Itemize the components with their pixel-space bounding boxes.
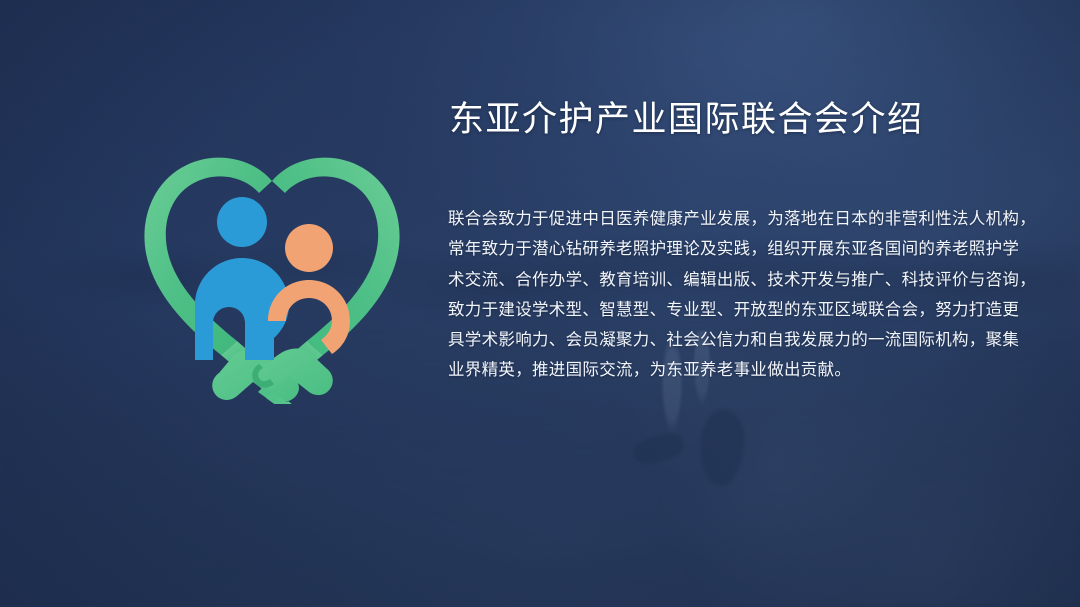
slide-canvas: 东亚介护产业国际联合会介绍 联合会致力于促进中日医养健康产业发展，为落地在日本的… [0, 0, 1080, 607]
body-line: 联合会致力于促进中日医养健康产业发展，为落地在日本的非营利性法人机构， [448, 204, 988, 234]
page-title: 东亚介护产业国际联合会介绍 [449, 99, 924, 141]
body-line: 具学术影响力、会员凝聚力、社会公信力和自我发展力的一流国际机构，聚集 [448, 325, 988, 355]
figure-blue [195, 197, 289, 360]
body-line: 常年致力于潜心钻研养老照护理论及实践，组织开展东亚各国间的养老照护学 [448, 234, 988, 264]
body-line: 业界精英，推进国际交流，为东亚养老事业做出贡献。 [448, 355, 988, 385]
body-paragraph: 联合会致力于促进中日医养健康产业发展，为落地在日本的非营利性法人机构， 常年致力… [448, 204, 988, 386]
heart-handshake-family-logo [133, 148, 411, 404]
body-line: 术交流、合作办学、教育培训、编辑出版、技术开发与推广、科技评价与咨询， [448, 265, 988, 295]
body-line: 致力于建设学术型、智慧型、专业型、开放型的东亚区域联合会，努力打造更 [448, 295, 988, 325]
